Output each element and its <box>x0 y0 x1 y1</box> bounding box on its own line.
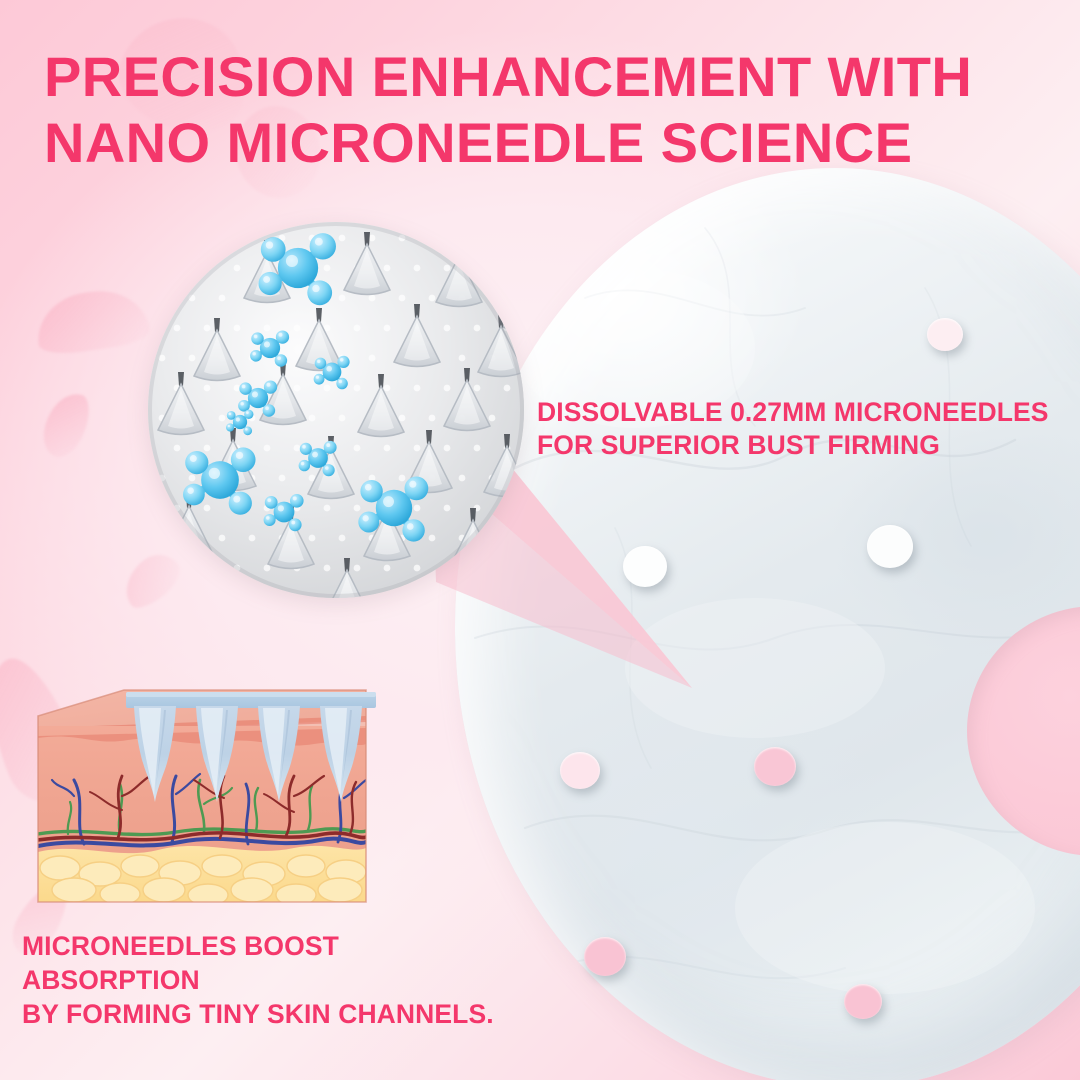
poster-canvas: PRECISION ENHANCEMENT WITH NANO MICRONEE… <box>0 0 1080 1080</box>
petal-decoration <box>33 284 152 357</box>
magnified-microneedle-inset <box>148 222 524 598</box>
patch-texture <box>455 168 1080 1080</box>
patch-hole <box>844 984 882 1019</box>
patch-hole <box>754 747 796 786</box>
page-title: PRECISION ENHANCEMENT WITH NANO MICRONEE… <box>44 44 1034 175</box>
callout-label-microneedles: DISSOLVABLE 0.27MM MICRONEEDLES FOR SUPE… <box>537 396 1067 463</box>
bust-patch-body <box>455 168 1080 1080</box>
caption-absorption: MICRONEEDLES BOOST ABSORPTION BY FORMING… <box>22 930 522 1032</box>
patch-hole <box>867 525 913 568</box>
skin-cross-section-diagram <box>8 676 456 928</box>
patch-hole <box>927 318 963 351</box>
patch-hole <box>560 752 600 789</box>
patch-hole <box>623 546 667 587</box>
bust-patch-group <box>455 168 1080 1080</box>
petal-decoration <box>39 388 94 462</box>
patch-hole <box>584 937 626 976</box>
patch-inner-cutout <box>967 606 1080 856</box>
